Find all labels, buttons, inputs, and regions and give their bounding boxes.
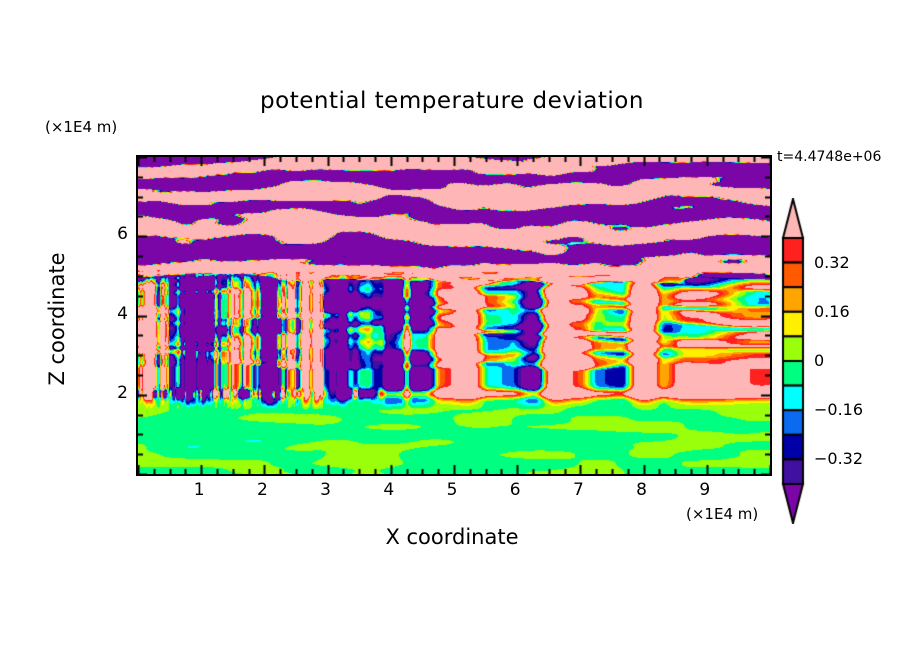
- x-tick-label: 5: [437, 480, 467, 500]
- colorbar-swatches: [781, 198, 805, 524]
- y-tick-label: 4: [102, 304, 128, 324]
- x-axis-title: X coordinate: [136, 525, 768, 549]
- colorbar-label: 0: [814, 351, 824, 370]
- x-tick-label: 9: [690, 480, 720, 500]
- colorbar-label: −0.32: [814, 449, 863, 468]
- y-tick-label: 6: [102, 224, 128, 244]
- x-tick-label: 4: [374, 480, 404, 500]
- x-tick-label: 6: [500, 480, 530, 500]
- time-annotation: t=4.4748e+06: [777, 149, 881, 165]
- x-axis-unit-label: (×1E4 m): [686, 505, 758, 523]
- y-axis-unit-label: (×1E4 m): [45, 118, 117, 136]
- colorbar-label: 0.32: [814, 253, 850, 272]
- page-title: potential temperature deviation: [0, 88, 904, 114]
- x-tick-label: 8: [627, 480, 657, 500]
- y-tick-label: 2: [102, 383, 128, 403]
- colorbar-label: −0.16: [814, 400, 863, 419]
- x-tick-label: 1: [184, 480, 214, 500]
- contour-field: [138, 157, 770, 474]
- colorbar-label: 0.16: [814, 302, 850, 321]
- x-tick-label: 3: [311, 480, 341, 500]
- figure-canvas: potential temperature deviation (×1E4 m)…: [0, 0, 904, 654]
- x-tick-label: 2: [247, 480, 277, 500]
- plot-area: [136, 155, 772, 476]
- colorbar: [781, 198, 805, 524]
- x-tick-label: 7: [563, 480, 593, 500]
- y-axis-title: Z coordinate: [45, 229, 69, 409]
